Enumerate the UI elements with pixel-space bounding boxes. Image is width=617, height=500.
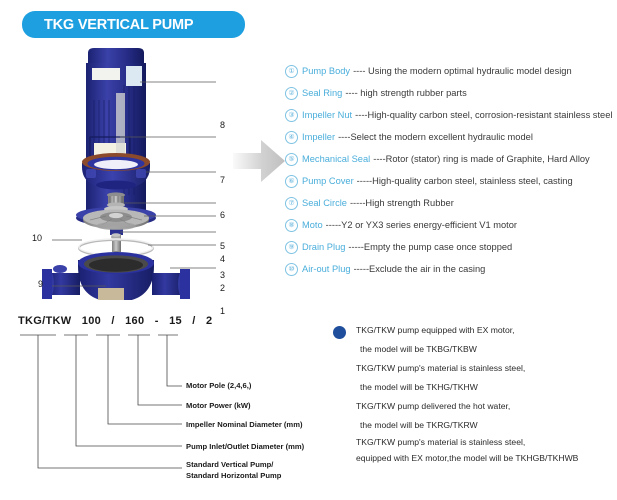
legend-part-desc: -----High-quality carbon steel, stainles…: [357, 176, 573, 186]
breakdown-label-inlet-dia: Pump Inlet/Outlet Diameter (mm): [186, 442, 305, 451]
legend-part-desc: -----Y2 or YX3 series energy-efficient V…: [326, 220, 517, 230]
legend-number-icon: ⑧: [285, 219, 298, 232]
legend-number-icon: ⑩: [285, 263, 298, 276]
legend-part-desc: -----Exclude the air in the casing: [354, 264, 486, 274]
legend-part-desc: ---- Using the modern optimal hydraulic …: [353, 66, 572, 76]
impeller-part: [83, 210, 149, 231]
legend-number-icon: ⑥: [285, 175, 298, 188]
legend-part-name: Seal Circle: [302, 198, 347, 208]
pump-body-part: [42, 252, 190, 300]
legend-part-desc: -----High strength Rubber: [350, 198, 454, 208]
model-variants-note: TKG/TKW pump equipped with EX motor, the…: [333, 320, 613, 466]
legend-part-name: Mechanical Seal: [302, 154, 370, 164]
legend-part-name: Impeller Nut: [302, 110, 352, 120]
legend-number-icon: ①: [285, 65, 298, 78]
legend-item: ① Pump Body ---- Using the modern optima…: [285, 60, 615, 82]
variant-line: TKG/TKW pump's material is stainless ste…: [356, 358, 613, 377]
legend-item: ③ Impeller Nut ----High-quality carbon s…: [285, 104, 615, 126]
callout-number-7: 7: [220, 175, 225, 185]
callout-number-8: 8: [220, 120, 225, 130]
page-title-banner: TKG VERTICAL PUMP: [22, 11, 245, 38]
callout-number-4: 4: [220, 254, 225, 264]
breakdown-label-motor-power: Motor Power (kW): [186, 401, 251, 410]
legend-number-icon: ②: [285, 87, 298, 100]
legend-item: ⑦ Seal Circle -----High strength Rubber: [285, 192, 615, 214]
callout-number-2: 2: [220, 283, 225, 293]
callout-number-6: 6: [220, 210, 225, 220]
callout-number-9: 9: [38, 279, 43, 289]
variant-line: the model will be TKBG/TKBW: [360, 339, 613, 358]
air-out-plug-part: [53, 265, 67, 273]
variant-line: TKG/TKW pump equipped with EX motor,: [356, 320, 613, 339]
legend-part-name: Air-out Plug: [302, 264, 351, 274]
legend-item: ⑥ Pump Cover -----High-quality carbon st…: [285, 170, 615, 192]
variant-line: the model will be TKRG/TKRW: [360, 415, 613, 434]
legend-item: ④ Impeller ----Select the modern excelle…: [285, 126, 615, 148]
variant-line: TKG/TKW pump delivered the hot water,: [356, 396, 613, 415]
variant-line: equipped with EX motor,the model will be…: [356, 450, 613, 466]
breakdown-label-motor-pole: Motor Pole (2,4,6,): [186, 381, 252, 390]
legend-number-icon: ④: [285, 131, 298, 144]
legend-part-desc: ----Select the modern excellent hydrauli…: [338, 132, 533, 142]
legend-part-name: Impeller: [302, 132, 335, 142]
model-code-breakdown: TKG/TKW 100 / 160 - 15 / 2 Motor Pole: [10, 310, 310, 490]
legend-part-name: Seal Ring: [302, 88, 342, 98]
bullet-dot-icon: [333, 326, 346, 339]
legend-number-icon: ⑨: [285, 241, 298, 254]
legend-item: ⑧ Moto -----Y2 or YX3 series energy-effi…: [285, 214, 615, 236]
exploded-pump-diagram: 8 7 6 5 4 3 2 1 10 9: [20, 45, 265, 300]
legend-part-name: Moto: [302, 220, 323, 230]
flow-arrow-icon: [231, 138, 287, 184]
legend-part-name: Drain Plug: [302, 242, 345, 252]
legend-number-icon: ⑤: [285, 153, 298, 166]
legend-part-desc: -----Empty the pump case once stopped: [348, 242, 512, 252]
breakdown-label-standard-horiz: Standard Horizontal Pump: [186, 471, 282, 480]
breakdown-label-impeller-dia: Impeller Nominal Diameter (mm): [186, 420, 303, 429]
legend-part-name: Pump Body: [302, 66, 350, 76]
legend-number-icon: ⑦: [285, 197, 298, 210]
breakdown-label-standard-vert: Standard Vertical Pump/: [186, 460, 274, 469]
callout-number-3: 3: [220, 270, 225, 280]
variant-line: TKG/TKW pump's material is stainless ste…: [356, 434, 613, 450]
legend-number-icon: ③: [285, 109, 298, 122]
variant-line: the model will be TKHG/TKHW: [360, 377, 613, 396]
callout-number-10: 10: [32, 233, 42, 243]
legend-part-desc: ----Rotor (stator) ring is made of Graph…: [373, 154, 589, 164]
parts-legend: ① Pump Body ---- Using the modern optima…: [285, 60, 615, 280]
legend-item: ⑤ Mechanical Seal ----Rotor (stator) rin…: [285, 148, 615, 170]
impeller-nut-part: [111, 233, 121, 239]
legend-part-name: Pump Cover: [302, 176, 354, 186]
page-title: TKG VERTICAL PUMP: [44, 17, 193, 33]
callout-number-5: 5: [220, 241, 225, 251]
legend-item: ⑩ Air-out Plug -----Exclude the air in t…: [285, 258, 615, 280]
legend-part-desc: ---- high strength rubber parts: [345, 88, 466, 98]
legend-item: ② Seal Ring ---- high strength rubber pa…: [285, 82, 615, 104]
legend-item: ⑨ Drain Plug -----Empty the pump case on…: [285, 236, 615, 258]
legend-part-desc: ----High-quality carbon steel, corrosion…: [355, 110, 612, 120]
